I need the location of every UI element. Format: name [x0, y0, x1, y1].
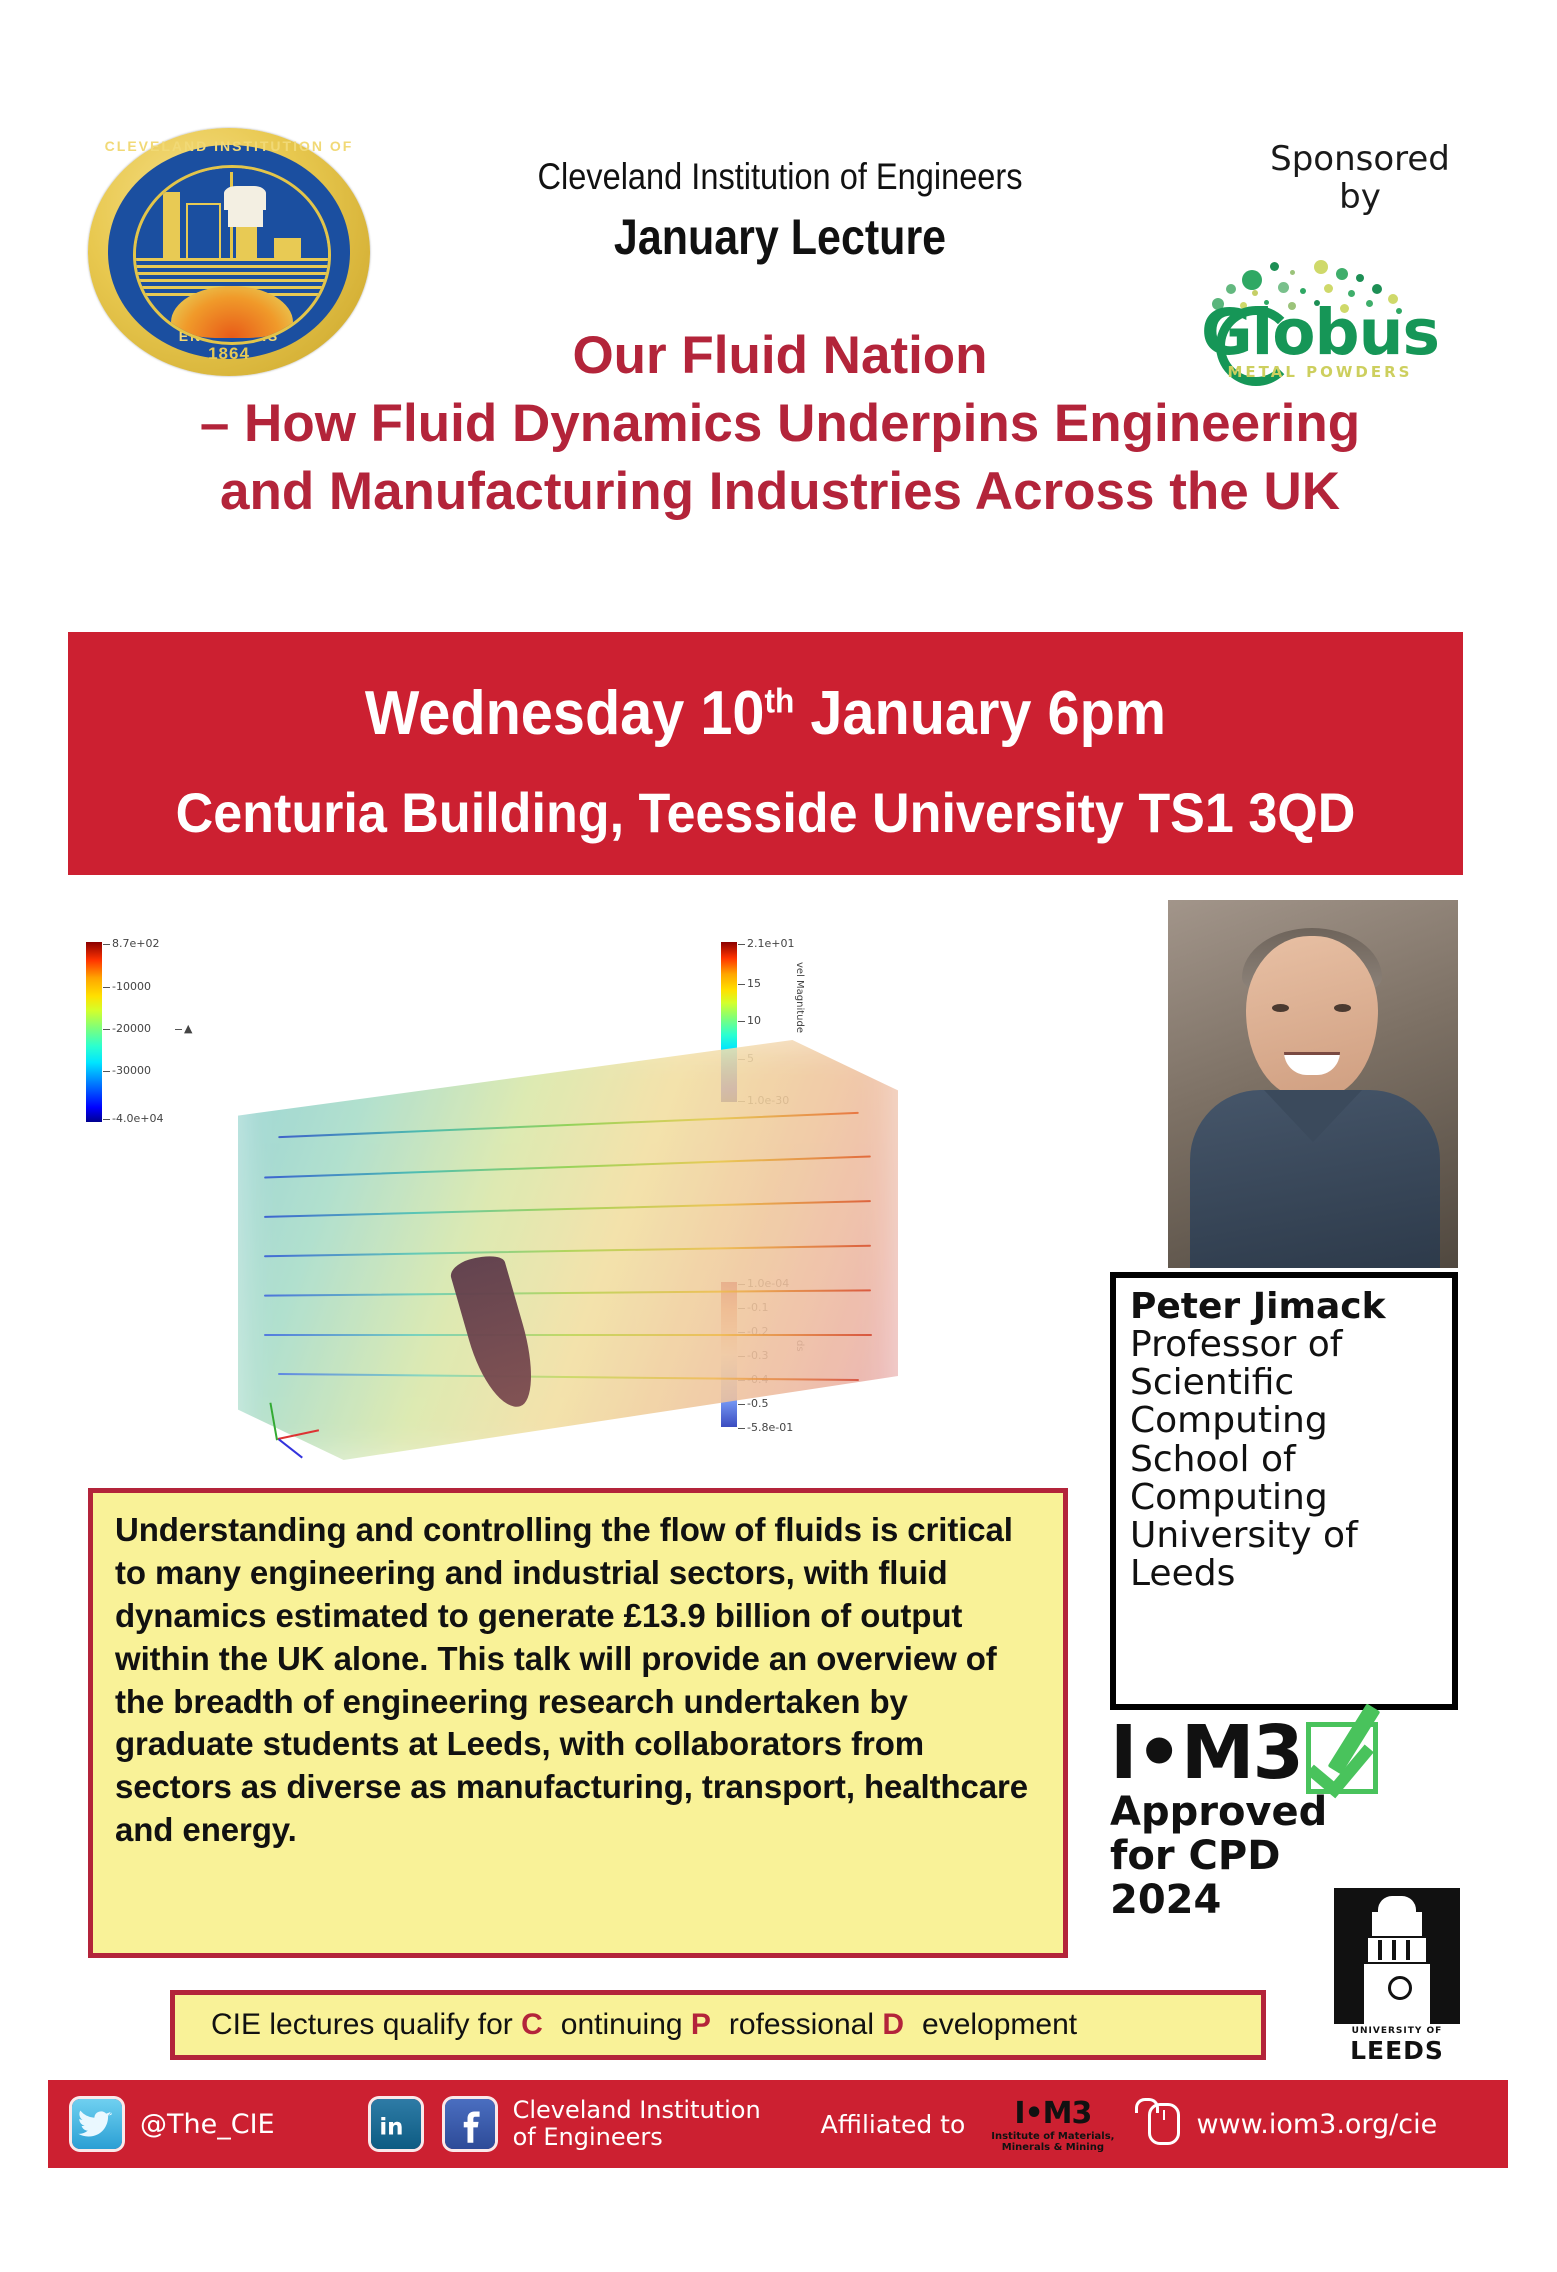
footer-iom3-logo: I•M3 Institute of Materials, Minerals & … [991, 2096, 1114, 2153]
pressure-colorbar-tick: -10000 [112, 980, 151, 993]
footer-iom3-sub-line1: Institute of Materials, [991, 2131, 1114, 2142]
event-date-prefix: Wednesday 10 [365, 679, 765, 748]
seal-arc-top-text: CLEVELAND INSTITUTION OF [88, 138, 370, 154]
cpd-strip-c: C [521, 2008, 543, 2041]
cpd-approved-line1: Approved [1110, 1792, 1390, 1832]
leeds-tower-icon [1334, 1888, 1460, 2024]
lecture-title: Our Fluid Nation – How Fluid Dynamics Un… [30, 328, 1530, 521]
affiliated-to-label: Affiliated to [821, 2110, 966, 2139]
cfd-flow-domain [238, 1040, 898, 1460]
speaker-affiliation-line: University of [1130, 1517, 1438, 1555]
cfd-visualisation: 8.7e+02 -10000 -20000 -30000 -4.0e+04 ▲ … [68, 900, 1078, 1480]
event-date-suffix: January 6pm [794, 679, 1166, 748]
abstract-text: Understanding and controlling the flow o… [115, 1509, 1041, 1852]
cpd-approved-line2: for CPD [1110, 1836, 1390, 1876]
speaker-affiliation-line: Scientific [1130, 1364, 1438, 1402]
pressure-colorbar-icon [86, 942, 102, 1122]
twitter-handle[interactable]: @The_CIE [140, 2109, 275, 2140]
svg-text:in: in [379, 2114, 403, 2140]
cpd-strip-d: D [882, 2008, 904, 2041]
leeds-name-text: LEEDS [1334, 2036, 1460, 2065]
sponsored-label-line2: by [1210, 178, 1510, 216]
event-date-ordinal: th [764, 682, 794, 720]
website-link[interactable]: www.iom3.org/cie [1196, 2109, 1437, 2140]
pressure-colorbar-tick: -20000 [112, 1022, 151, 1035]
pressure-colorbar-axis-glyph: ▲ [184, 1022, 192, 1035]
abstract-box: Understanding and controlling the flow o… [88, 1488, 1068, 1958]
lecture-title-sub-line1: – How Fluid Dynamics Underpins Engineeri… [30, 396, 1530, 452]
velocity-colorbar-tick: 15 [747, 977, 761, 990]
cpd-qualification-strip: CIE lectures qualify for Continuing Prof… [170, 1990, 1266, 2060]
event-date-line: Wednesday 10th January 6pm [117, 678, 1414, 749]
speaker-info-box: Peter Jimack Professor of Scientific Com… [1110, 1272, 1458, 1710]
velocity-colorbar-label: vel Magnitude [794, 962, 805, 1033]
leeds-sub-text: UNIVERSITY OF [1334, 2026, 1460, 2036]
velocity-colorbar-tick: 2.1e+01 [747, 937, 794, 950]
cpd-strip-rofessional: rofessional [711, 2008, 882, 2041]
cfd-axes-triad-icon [278, 1380, 338, 1440]
lecture-title-main: Our Fluid Nation [30, 328, 1530, 384]
cpd-strip-text: CIE lectures qualify for Continuing Prof… [175, 2008, 1077, 2042]
footer-org-line2: of Engineers [513, 2124, 761, 2151]
facebook-icon[interactable] [445, 2099, 495, 2149]
pressure-colorbar-tick: 8.7e+02 [112, 937, 159, 950]
cpd-strip-pre: CIE lectures qualify for [193, 2008, 521, 2041]
lecture-label: January Lecture [453, 208, 1107, 266]
pressure-colorbar-tick: -30000 [112, 1064, 151, 1077]
mouse-cursor-icon [1148, 2103, 1180, 2145]
sponsored-by-block: Sponsored by [1210, 140, 1510, 216]
speaker-affiliation-line: Computing [1130, 1479, 1438, 1517]
footer-organisation: Cleveland Institution of Engineers [513, 2097, 761, 2151]
cpd-strip-p: P [691, 2008, 711, 2041]
organisation-name: Cleveland Institution of Engineers [446, 156, 1115, 198]
pressure-colorbar-tick: -4.0e+04 [112, 1112, 163, 1125]
footer-org-line1: Cleveland Institution [513, 2097, 761, 2124]
footer-iom3-sub-line2: Minerals & Mining [991, 2142, 1114, 2153]
speaker-affiliation-line: School of [1130, 1441, 1438, 1479]
velocity-colorbar-tick: 10 [747, 1014, 761, 1027]
event-venue-line: Centuria Building, Teesside University T… [117, 780, 1414, 845]
cpd-strip-ontinuing: ontinuing [543, 2008, 691, 2041]
cpd-strip-evelopment: evelopment [904, 2008, 1077, 2041]
speaker-photo [1168, 900, 1458, 1268]
date-venue-banner: Wednesday 10th January 6pm Centuria Buil… [68, 632, 1463, 875]
speaker-affiliation-line: Computing [1130, 1402, 1438, 1440]
sponsored-label-line1: Sponsored [1210, 140, 1510, 178]
lecture-title-sub-line2: and Manufacturing Industries Across the … [30, 464, 1530, 520]
university-of-leeds-logo: UNIVERSITY OF LEEDS [1334, 1888, 1460, 2064]
speaker-affiliation-line: Professor of [1130, 1326, 1438, 1364]
speaker-name: Peter Jimack [1130, 1288, 1438, 1326]
speaker-affiliation-line: Leeds [1130, 1555, 1438, 1593]
twitter-icon[interactable] [72, 2099, 122, 2149]
footer-iom3-wordmark: I•M3 [991, 2096, 1114, 2131]
poster-root: CLEVELAND INSTITUTION OF ENGINEERS 1864 … [0, 0, 1557, 2272]
poster-footer: @The_CIE in Cleveland Institution of Eng… [48, 2080, 1508, 2168]
poster-header: CLEVELAND INSTITUTION OF ENGINEERS 1864 … [0, 0, 1557, 430]
linkedin-icon[interactable]: in [371, 2099, 421, 2149]
